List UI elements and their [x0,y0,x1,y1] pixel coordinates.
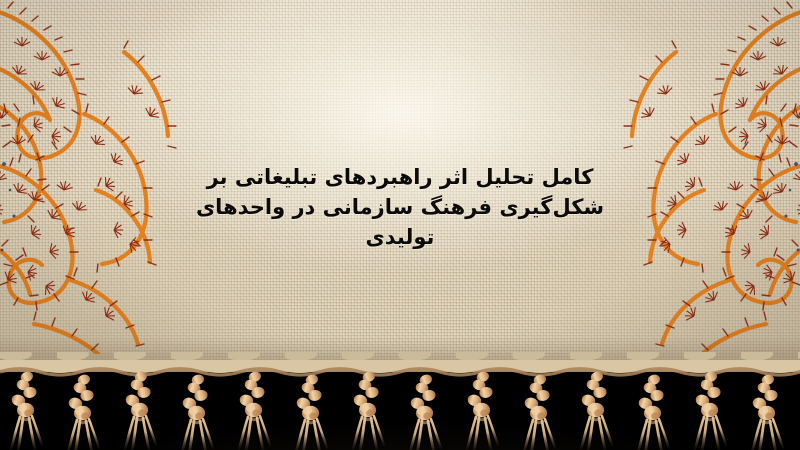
title-line-3: تولیدی [165,222,635,252]
title-line-2: شکل‌گیری فرهنگ سازمانی در واحدهای [165,192,635,222]
page-title: کامل تحلیل اثر راهبردهای تبلیغاتی بر شکل… [165,162,635,252]
black-background-band [0,372,800,450]
title-line-1: کامل تحلیل اثر راهبردهای تبلیغاتی بر [165,162,635,192]
slide-canvas: کامل تحلیل اثر راهبردهای تبلیغاتی بر شکل… [0,0,800,450]
